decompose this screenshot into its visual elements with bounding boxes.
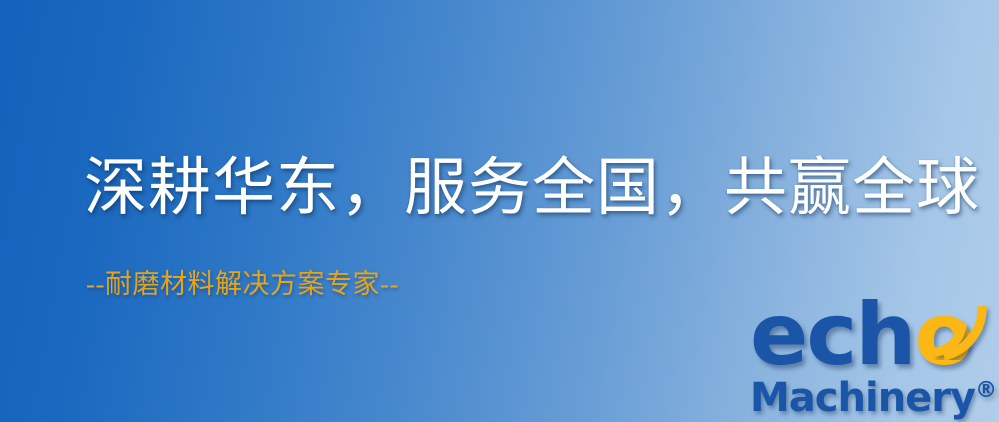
banner-headline: 深耕华东，服务全国，共赢全球 bbox=[84, 152, 980, 224]
banner-subtitle: --耐磨材料解决方案专家-- bbox=[86, 268, 399, 300]
company-logo[interactable]: echo Machinery® bbox=[742, 296, 999, 422]
logo-company-name-text: Machinery bbox=[750, 375, 975, 421]
registered-trademark-icon: ® bbox=[975, 378, 997, 403]
logo-wordmark: echo bbox=[750, 292, 972, 378]
promotional-banner: 深耕华东，服务全国，共赢全球 --耐磨材料解决方案专家-- echo Machi… bbox=[0, 0, 999, 422]
logo-company-name: Machinery® bbox=[750, 368, 997, 421]
